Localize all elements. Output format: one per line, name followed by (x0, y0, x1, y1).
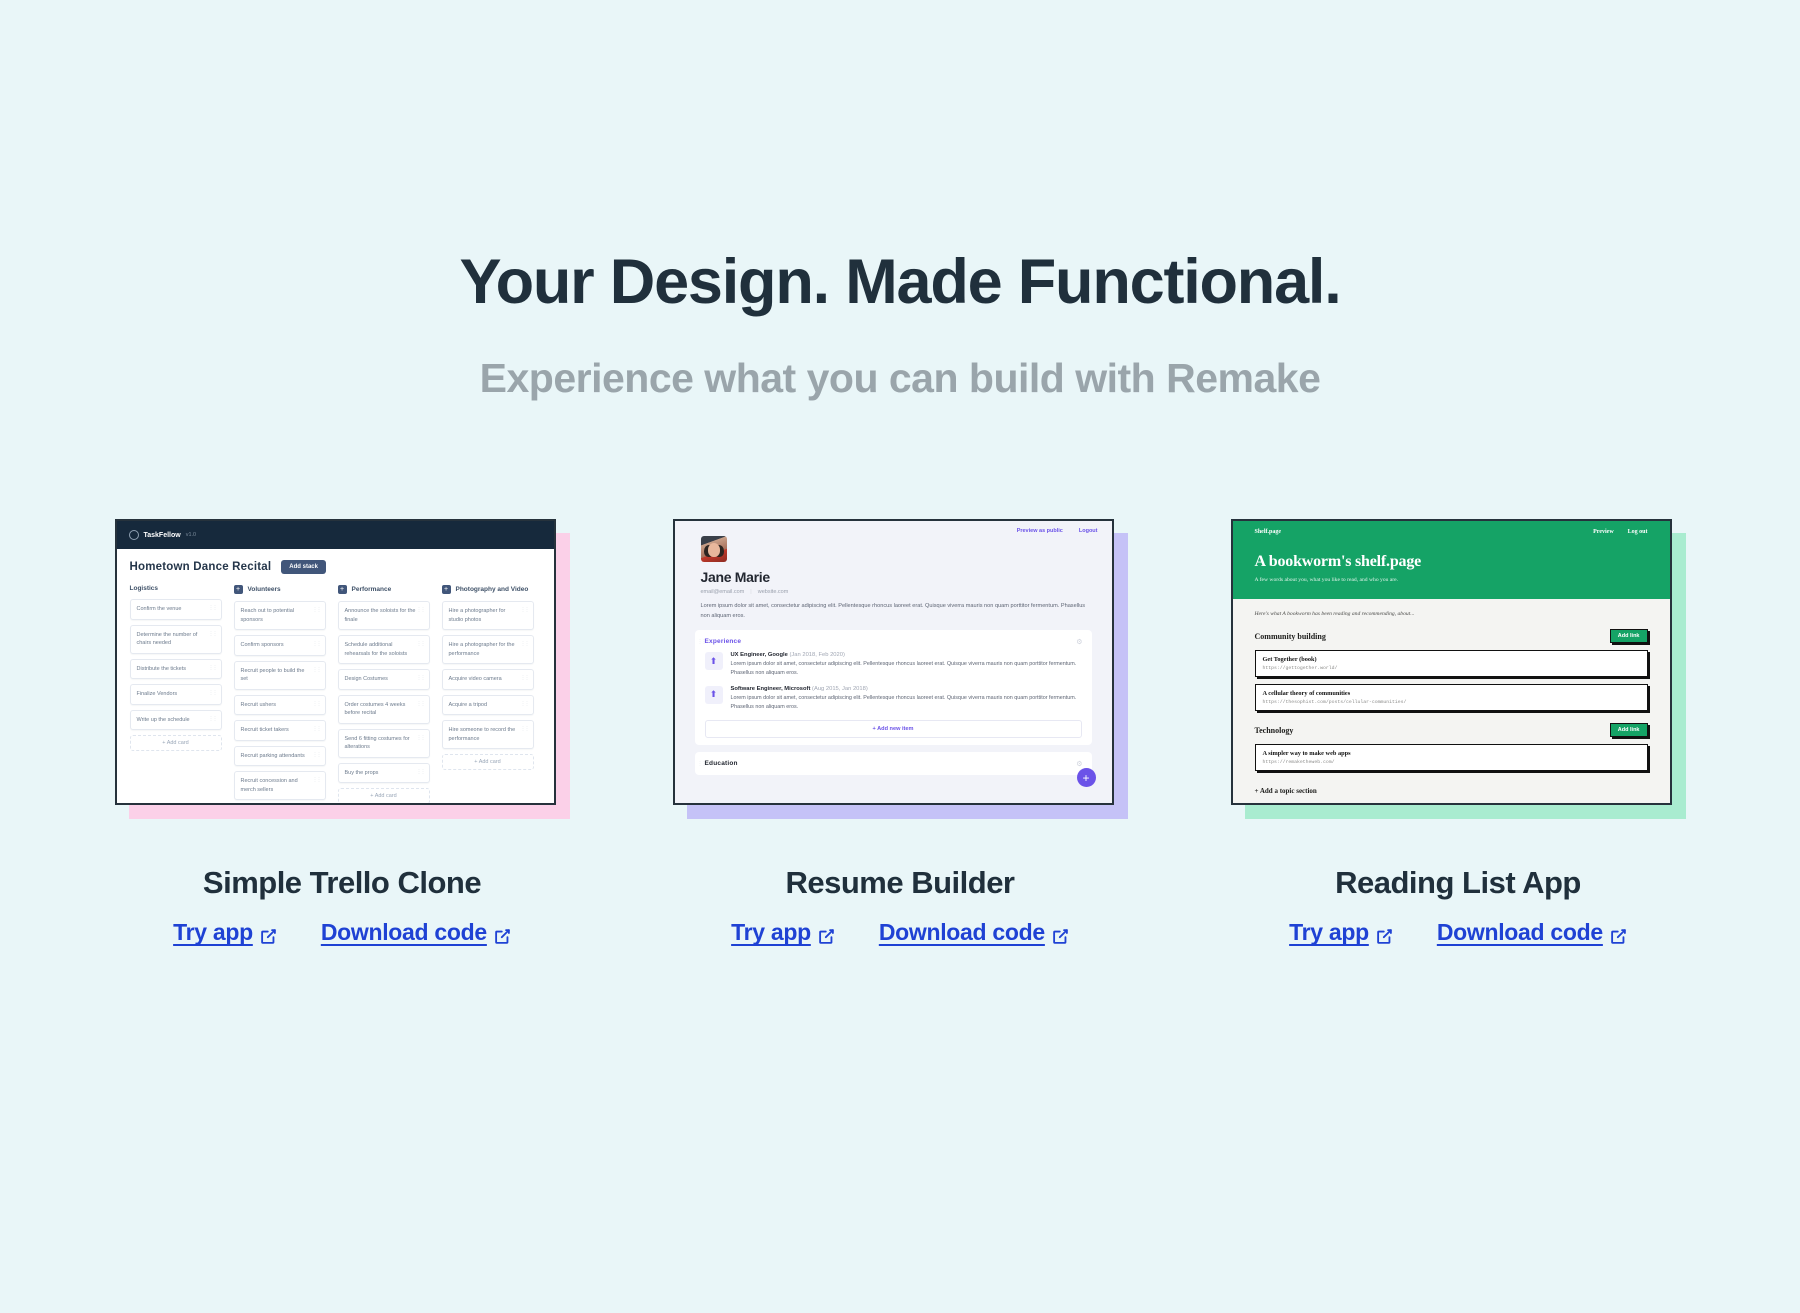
hero-section: Your Design. Made Functional. Experience… (0, 0, 1800, 402)
task-text: Acquire video camera (449, 676, 502, 682)
link-label: Try app (173, 919, 253, 946)
resume-bio: Lorem ipsum dolor sit amet, consectetur … (701, 602, 1086, 621)
external-link-icon (818, 924, 835, 941)
board-task-card[interactable]: Acquire video camera⋮⋮ (442, 669, 534, 690)
board-column-volunteers: + Volunteers Reach out to potential spon… (234, 585, 326, 805)
link-label: Try app (731, 919, 811, 946)
column-header: + Performance (338, 585, 430, 594)
download-code-link-resume[interactable]: Download code (879, 919, 1069, 946)
board-task-card[interactable]: Recruit ushers⋮⋮ (234, 695, 326, 716)
drag-handle-icon[interactable]: ⋮⋮ (521, 641, 529, 649)
add-link-button[interactable]: Add link (1610, 723, 1648, 737)
drag-handle-icon[interactable]: ⋮⋮ (417, 675, 425, 683)
experience-dates: (Jan 2018, Feb 2020) (789, 652, 844, 658)
board-task-card[interactable]: Recruit parking attendants⋮⋮ (234, 746, 326, 767)
shelfpage-intro: Here's what A bookworm has been reading … (1255, 611, 1648, 617)
card-links: Try app Download code (673, 919, 1128, 946)
task-text: Reach out to potential sponsors (241, 608, 295, 623)
board-title: Hometown Dance Recital (130, 561, 272, 573)
reading-list-item[interactable]: Get Together (book) https://gettogether.… (1255, 650, 1648, 677)
drag-handle-icon[interactable]: ⋮⋮ (209, 631, 217, 639)
add-new-item-button[interactable]: + Add new item (705, 720, 1082, 738)
taskfellow-topbar: TaskFellow v1.0 (117, 521, 554, 549)
drag-handle-icon[interactable]: ⋮⋮ (521, 607, 529, 615)
task-text: Recruit ticket takers (241, 727, 289, 733)
task-text: Determine the number of chairs needed (137, 632, 198, 647)
try-app-link-trello[interactable]: Try app (173, 919, 277, 946)
preview-link[interactable]: Preview (1593, 529, 1614, 535)
drag-handle-icon[interactable]: ⋮⋮ (313, 726, 321, 734)
taskfellow-version: v1.0 (186, 532, 196, 538)
external-link-icon (494, 924, 511, 941)
logout-link[interactable]: Log out (1628, 529, 1648, 535)
board-task-card[interactable]: Reach out to potential sponsors⋮⋮ (234, 601, 326, 630)
board-task-card[interactable]: Announce the soloists for the finale⋮⋮ (338, 601, 430, 630)
drag-handle-icon[interactable]: ⋮⋮ (698, 761, 706, 767)
download-code-link-reading[interactable]: Download code (1437, 919, 1627, 946)
item-title: Get Together (book) (1263, 656, 1640, 663)
showcase-card-reading: Shelf.page Preview Log out A bookworm's … (1231, 519, 1686, 946)
resume-section-experience: ⋮⋮ Experience ⚙ ⬆ UX Engineer, Google (J… (695, 630, 1092, 745)
website-value: website.com (758, 589, 789, 595)
download-code-link-trello[interactable]: Download code (321, 919, 511, 946)
add-column-icon[interactable]: + (234, 585, 243, 594)
board-task-card[interactable]: Hire a photographer for studio photos⋮⋮ (442, 601, 534, 630)
section-title: Education (705, 760, 1082, 767)
app-preview-resume: Preview as public Logout Jane Marie emai… (673, 519, 1114, 805)
column-title: Performance (352, 586, 392, 593)
add-topic-section-button[interactable]: + Add a topic section (1255, 787, 1648, 795)
task-text: Order costumes 4 weeks before recital (345, 702, 406, 717)
link-label: Download code (321, 919, 487, 946)
add-link-button[interactable]: Add link (1610, 629, 1648, 643)
task-text: Recruit ushers (241, 702, 276, 708)
logout-link[interactable]: Logout (1079, 528, 1098, 534)
board-task-card[interactable]: Send 6 fitting costumes for alterations⋮… (338, 729, 430, 758)
card-links: Try app Download code (1231, 919, 1686, 946)
board-header: Hometown Dance Recital Add stack (130, 560, 554, 574)
resume-topbar: Preview as public Logout (675, 521, 1112, 534)
experience-body: Lorem ipsum dolor sit amet, consectetur … (731, 694, 1082, 712)
drag-handle-icon[interactable]: ⋮⋮ (417, 701, 425, 709)
experience-item: ⬆ Software Engineer, Microsoft (Aug 2015… (705, 686, 1082, 712)
task-text: Acquire a tripod (449, 702, 488, 708)
board-columns: Logistics Confirm the venue⋮⋮ Determine … (130, 585, 554, 805)
topic-section-header: Community building Add link (1255, 629, 1648, 643)
board-task-card[interactable]: Recruit concession and merch sellers⋮⋮ (234, 771, 326, 800)
board-task-card[interactable]: Confirm sponsors⋮⋮ (234, 635, 326, 656)
resume-header: Jane Marie email@email.com | website.com… (675, 534, 1112, 621)
card-title-trello: Simple Trello Clone (115, 865, 570, 901)
link-label: Download code (879, 919, 1045, 946)
try-app-link-reading[interactable]: Try app (1289, 919, 1393, 946)
column-title: Volunteers (248, 586, 281, 593)
add-stack-button[interactable]: Add stack (281, 560, 326, 574)
taskfellow-brand: TaskFellow (144, 532, 181, 539)
board-column-logistics: Logistics Confirm the venue⋮⋮ Determine … (130, 585, 222, 805)
item-url: https://remaketheweb.com/ (1263, 760, 1640, 765)
nav-right: Preview Log out (1593, 529, 1647, 535)
card-title-resume: Resume Builder (673, 865, 1128, 901)
experience-heading: UX Engineer, Google (Jan 2018, Feb 2020) (731, 652, 1082, 658)
link-label: Try app (1289, 919, 1369, 946)
shelfpage-app: Shelf.page Preview Log out A bookworm's … (1233, 521, 1670, 803)
upload-icon[interactable]: ⬆ (705, 686, 723, 704)
page-root: Your Design. Made Functional. Experience… (0, 0, 1800, 1313)
resume-section-education: ⋮⋮ Education ⚙ (695, 752, 1092, 775)
task-text: Schedule additional rehearsals for the s… (345, 642, 408, 657)
page-subtitle: Experience what you can build with Remak… (0, 355, 1800, 402)
page-title: Your Design. Made Functional. (0, 248, 1800, 317)
resume-name: Jane Marie (701, 569, 1086, 585)
external-link-icon (260, 924, 277, 941)
drag-handle-icon[interactable]: ⋮⋮ (209, 716, 217, 724)
divider: | (750, 589, 751, 595)
task-text: Confirm sponsors (241, 642, 284, 648)
shelfpage-brand[interactable]: Shelf.page (1255, 529, 1282, 535)
drag-handle-icon[interactable]: ⋮⋮ (417, 769, 425, 777)
board-task-card[interactable]: Confirm the venue⋮⋮ (130, 599, 222, 620)
board-task-card[interactable]: Recruit ticket takers⋮⋮ (234, 720, 326, 741)
reading-list-item[interactable]: A simpler way to make web apps https://r… (1255, 744, 1648, 771)
task-text: Send 6 fitting costumes for alterations (345, 736, 410, 751)
topic-title: Community building (1255, 632, 1326, 641)
shelfpage-nav: Shelf.page Preview Log out (1255, 529, 1648, 535)
drag-handle-icon[interactable]: ⋮⋮ (313, 777, 321, 785)
task-text: Confirm the venue (137, 606, 182, 612)
task-text: Recruit parking attendants (241, 753, 305, 759)
experience-heading: Software Engineer, Microsoft (Aug 2015, … (731, 686, 1082, 692)
task-text: Hire a photographer for the performance (449, 642, 515, 657)
task-text: Buy the props (345, 770, 379, 776)
item-title: A cellular theory of communities (1263, 690, 1640, 697)
experience-role: UX Engineer, Google (731, 652, 788, 658)
drag-handle-icon[interactable]: ⋮⋮ (417, 607, 425, 615)
board-task-card[interactable]: Finalize Vendors⋮⋮ (130, 684, 222, 705)
task-text: Distribute the tickets (137, 666, 187, 672)
board-task-card[interactable]: Schedule additional rehearsals for the s… (338, 635, 430, 664)
drag-handle-icon[interactable]: ⋮⋮ (521, 701, 529, 709)
upload-icon[interactable]: ⬆ (705, 652, 723, 670)
topic-section-header: Technology Add link (1255, 723, 1648, 737)
gear-icon[interactable]: ⚙ (1076, 638, 1082, 646)
avatar (701, 536, 727, 562)
drag-handle-icon[interactable]: ⋮⋮ (313, 701, 321, 709)
drag-handle-icon[interactable]: ⋮⋮ (417, 641, 425, 649)
shelfpage-header: Shelf.page Preview Log out A bookworm's … (1233, 521, 1670, 599)
drag-handle-icon[interactable]: ⋮⋮ (417, 735, 425, 743)
task-text: Finalize Vendors (137, 691, 178, 697)
board-task-card[interactable]: Write up the schedule⋮⋮ (130, 710, 222, 731)
drag-handle-icon[interactable]: ⋮⋮ (521, 675, 529, 683)
add-card-button[interactable]: + Add card (130, 735, 222, 751)
board-task-card[interactable]: Order costumes 4 weeks before recital⋮⋮ (338, 695, 430, 724)
item-url: https://gettogether.world/ (1263, 666, 1640, 671)
add-column-icon[interactable]: + (338, 585, 347, 594)
task-text: Write up the schedule (137, 717, 190, 723)
add-card-button[interactable]: + Add card (442, 754, 534, 770)
card-title-reading: Reading List App (1231, 865, 1686, 901)
task-text: Hire someone to record the performance (449, 727, 516, 742)
board-column-performance: + Performance Announce the soloists for … (338, 585, 430, 805)
section-title: Experience (705, 638, 1082, 645)
resume-contact: email@email.com | website.com (701, 589, 1086, 595)
board-task-card[interactable]: Buy the props⋮⋮ (338, 763, 430, 784)
board-task-card[interactable]: Hire someone to record the performance⋮⋮ (442, 720, 534, 749)
experience-dates: (Aug 2015, Jan 2018) (812, 686, 868, 692)
app-preview-reading: Shelf.page Preview Log out A bookworm's … (1231, 519, 1672, 805)
board-task-card[interactable]: Design Costumes⋮⋮ (338, 669, 430, 690)
drag-handle-icon[interactable]: ⋮⋮ (313, 667, 321, 675)
screenshot-frame-resume: Preview as public Logout Jane Marie emai… (673, 519, 1128, 819)
board-task-card[interactable]: Acquire a tripod⋮⋮ (442, 695, 534, 716)
board-column-photography: + Photography and Video Hire a photograp… (442, 585, 534, 805)
shelfpage-subheading: A few words about you, what you like to … (1255, 577, 1648, 583)
board-task-card[interactable]: Recruit people to build the set⋮⋮ (234, 661, 326, 690)
column-title: Photography and Video (456, 586, 529, 593)
drag-handle-icon[interactable]: ⋮⋮ (313, 607, 321, 615)
shelfpage-heading: A bookworm's shelf.page (1255, 553, 1648, 571)
add-column-icon[interactable]: + (442, 585, 451, 594)
drag-handle-icon[interactable]: ⋮⋮ (209, 605, 217, 613)
shelfpage-body: Here's what A bookworm has been reading … (1233, 599, 1670, 795)
taskfellow-board: Hometown Dance Recital Add stack Logisti… (117, 549, 554, 805)
task-text: Hire a photographer for studio photos (449, 608, 506, 623)
app-showcase-grid: TaskFellow v1.0 Hometown Dance Recital A… (0, 519, 1800, 946)
drag-handle-icon[interactable]: ⋮⋮ (521, 726, 529, 734)
showcase-card-resume: Preview as public Logout Jane Marie emai… (673, 519, 1128, 946)
task-text: Recruit concession and merch sellers (241, 778, 298, 793)
column-header: + Photography and Video (442, 585, 534, 594)
topic-title: Technology (1255, 726, 1294, 735)
add-section-fab[interactable]: + (1077, 768, 1096, 787)
preview-as-public-link[interactable]: Preview as public (1017, 528, 1063, 534)
experience-item: ⬆ UX Engineer, Google (Jan 2018, Feb 202… (705, 652, 1082, 678)
experience-role: Software Engineer, Microsoft (731, 686, 811, 692)
experience-text: Software Engineer, Microsoft (Aug 2015, … (731, 686, 1082, 712)
try-app-link-resume[interactable]: Try app (731, 919, 835, 946)
screenshot-frame-reading: Shelf.page Preview Log out A bookworm's … (1231, 519, 1686, 819)
external-link-icon (1052, 924, 1069, 941)
column-title: Logistics (130, 585, 159, 592)
app-preview-trello: TaskFellow v1.0 Hometown Dance Recital A… (115, 519, 556, 805)
add-card-button[interactable]: + Add card (338, 788, 430, 804)
reading-list-item[interactable]: A cellular theory of communities https:/… (1255, 684, 1648, 711)
experience-body: Lorem ipsum dolor sit amet, consectetur … (731, 660, 1082, 678)
external-link-icon (1610, 924, 1627, 941)
drag-handle-icon[interactable]: ⋮⋮ (313, 752, 321, 760)
drag-handle-icon[interactable]: ⋮⋮ (209, 665, 217, 673)
email-value: email@email.com (701, 589, 745, 595)
drag-handle-icon[interactable]: ⋮⋮ (698, 639, 706, 645)
column-header: + Volunteers (234, 585, 326, 594)
drag-handle-icon[interactable]: ⋮⋮ (209, 690, 217, 698)
resume-builder-app: Preview as public Logout Jane Marie emai… (675, 521, 1112, 803)
link-label: Download code (1437, 919, 1603, 946)
task-text: Design Costumes (345, 676, 388, 682)
drag-handle-icon[interactable]: ⋮⋮ (313, 641, 321, 649)
taskfellow-logo-icon (129, 530, 139, 540)
item-title: A simpler way to make web apps (1263, 750, 1640, 757)
card-links: Try app Download code (115, 919, 570, 946)
experience-text: UX Engineer, Google (Jan 2018, Feb 2020)… (731, 652, 1082, 678)
task-text: Announce the soloists for the finale (345, 608, 416, 623)
board-task-card[interactable]: Determine the number of chairs needed⋮⋮ (130, 625, 222, 654)
screenshot-frame-trello: TaskFellow v1.0 Hometown Dance Recital A… (115, 519, 570, 819)
external-link-icon (1376, 924, 1393, 941)
item-url: https://thesophist.com/posts/cellular-co… (1263, 700, 1640, 705)
column-header: Logistics (130, 585, 222, 592)
board-task-card[interactable]: Distribute the tickets⋮⋮ (130, 659, 222, 680)
task-text: Recruit people to build the set (241, 668, 305, 683)
board-task-card[interactable]: Hire a photographer for the performance⋮… (442, 635, 534, 664)
gear-icon[interactable]: ⚙ (1076, 760, 1082, 768)
showcase-card-trello: TaskFellow v1.0 Hometown Dance Recital A… (115, 519, 570, 946)
